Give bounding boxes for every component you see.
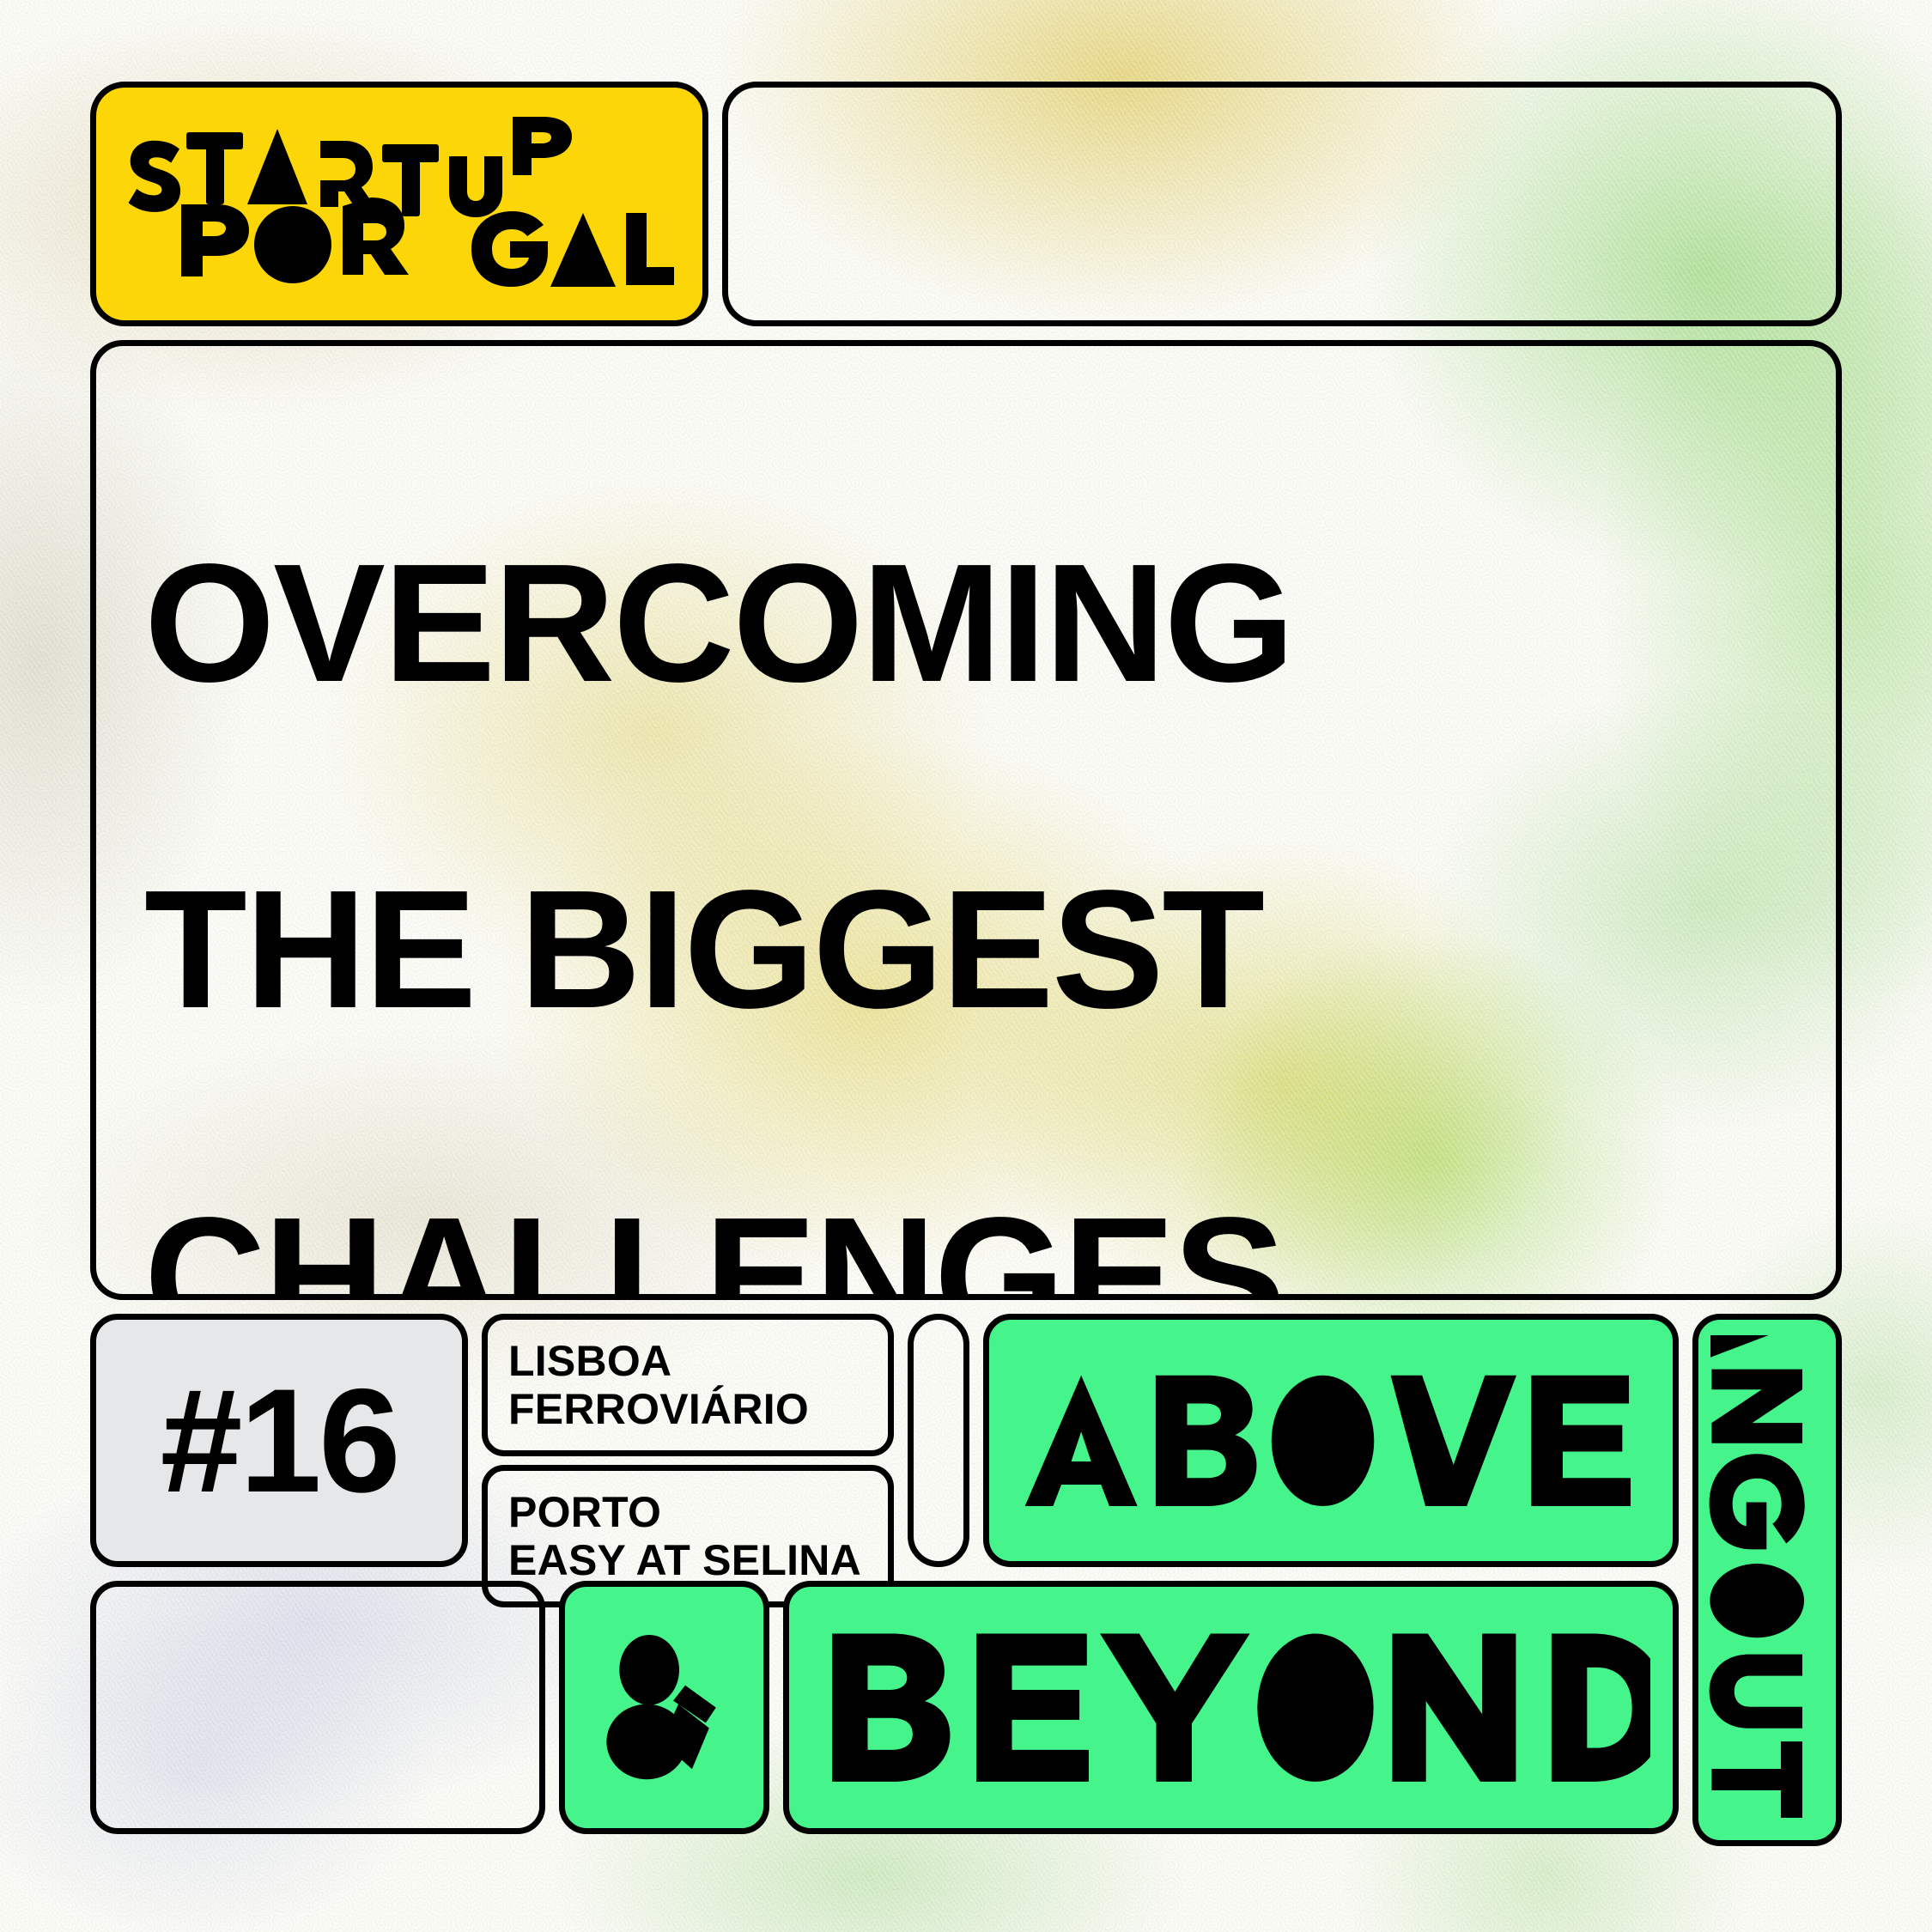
bottom-row-1: #16 LISBOA FERROVIÁRIO PORTO EASY AT SEL…	[90, 1314, 1679, 1567]
hangout-wordmark-svg	[1698, 1335, 1836, 1825]
headline-card: OVERCOMING THE BIGGEST CHALLENGES IN HEA…	[90, 340, 1842, 1300]
venue-place: EASY AT SELINA	[508, 1536, 867, 1584]
startup-portugal-logo-svg	[125, 112, 674, 296]
series-word-beyond	[783, 1581, 1679, 1834]
series-word-above	[983, 1314, 1679, 1567]
above-wordmark-svg	[1017, 1364, 1645, 1518]
poster-canvas: OVERCOMING THE BIGGEST CHALLENGES IN HEA…	[0, 0, 1932, 1932]
venue-place: FERROVIÁRIO	[508, 1385, 867, 1433]
top-row	[90, 82, 1842, 326]
hangout-rail	[1692, 1314, 1842, 1846]
page-title: OVERCOMING THE BIGGEST CHALLENGES IN HEA…	[144, 379, 1788, 1300]
ampersand-svg	[586, 1632, 741, 1782]
venue-city: PORTO	[508, 1488, 867, 1536]
beyond-wordmark-svg	[811, 1628, 1651, 1787]
venue-city: LISBOA	[508, 1337, 867, 1385]
series-word-ampersand	[559, 1581, 769, 1834]
venue-list: LISBOA FERROVIÁRIO PORTO EASY AT SELINA	[482, 1314, 894, 1567]
edition-badge: #16	[90, 1314, 468, 1567]
headline-line-3: CHALLENGES	[144, 1195, 1788, 1300]
bottom-row-2	[90, 1581, 1679, 1834]
spacer-pill	[908, 1314, 969, 1567]
top-right-blank-panel	[722, 82, 1842, 326]
headline-line-1: OVERCOMING	[144, 542, 1788, 705]
bottom-section: #16 LISBOA FERROVIÁRIO PORTO EASY AT SEL…	[90, 1314, 1842, 1846]
venue-lisboa: LISBOA FERROVIÁRIO	[482, 1314, 894, 1456]
startup-portugal-logo	[90, 82, 708, 326]
edition-number: #16	[161, 1367, 398, 1515]
bottom-left-group: #16 LISBOA FERROVIÁRIO PORTO EASY AT SEL…	[90, 1314, 1679, 1846]
bottom-left-blank-panel	[90, 1581, 545, 1834]
headline-line-2: THE BIGGEST	[144, 868, 1788, 1031]
